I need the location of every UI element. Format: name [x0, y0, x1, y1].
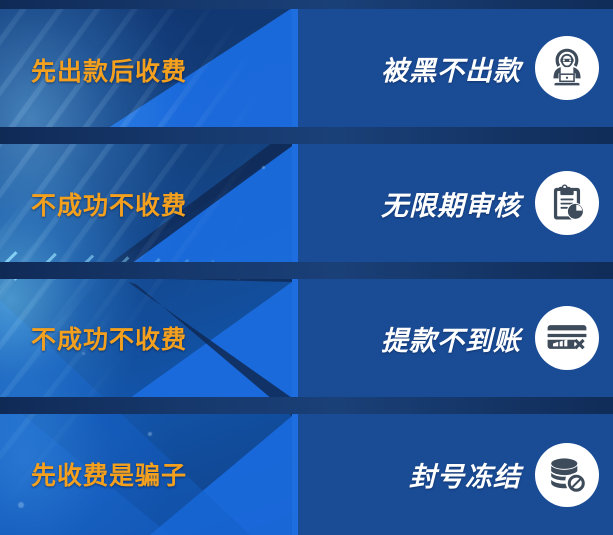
promo-banner: 先出款后收费不成功不收费不成功不收费先收费是骗子 被黑不出款 无限期审核: [0, 0, 613, 535]
credit-card-x-icon: [535, 306, 599, 370]
separator-3: [0, 397, 613, 414]
separator-1: [0, 127, 613, 144]
panel-account-frozen[interactable]: 封号冻结: [292, 414, 613, 535]
separator-2: [0, 262, 613, 279]
hacker-icon: [535, 36, 599, 100]
separator-top: [0, 0, 613, 9]
panel-withdrawal-not-received[interactable]: 提款不到账: [292, 279, 613, 397]
credit-card-x-icon: [544, 315, 590, 361]
clipboard-clock-icon: [535, 171, 599, 235]
sparkle-dot: [262, 166, 265, 169]
database-blocked-icon: [545, 453, 589, 497]
sparkle-dot: [148, 432, 152, 436]
caption-4: 先收费是骗子: [31, 456, 187, 492]
sparkle-dot: [18, 502, 24, 508]
panel-left-accent-bar: [292, 414, 298, 535]
panel-label: 封号冻结: [409, 455, 521, 494]
panel-label: 被黑不出款: [381, 49, 521, 88]
caption-1: 先出款后收费: [31, 52, 187, 88]
clipboard-clock-icon: [545, 181, 589, 225]
panel-label: 提款不到账: [381, 319, 521, 358]
database-blocked-icon: [535, 443, 599, 507]
panel-indefinite-review[interactable]: 无限期审核: [292, 144, 613, 262]
caption-3: 不成功不收费: [31, 320, 187, 356]
panel-left-accent-bar: [292, 144, 298, 262]
panel-left-accent-bar: [292, 9, 298, 127]
hacker-icon: [545, 46, 589, 90]
caption-2: 不成功不收费: [31, 186, 187, 222]
panel-hacked-no-payout[interactable]: 被黑不出款: [292, 9, 613, 127]
panel-left-accent-bar: [292, 279, 298, 397]
panel-label: 无限期审核: [381, 184, 521, 223]
